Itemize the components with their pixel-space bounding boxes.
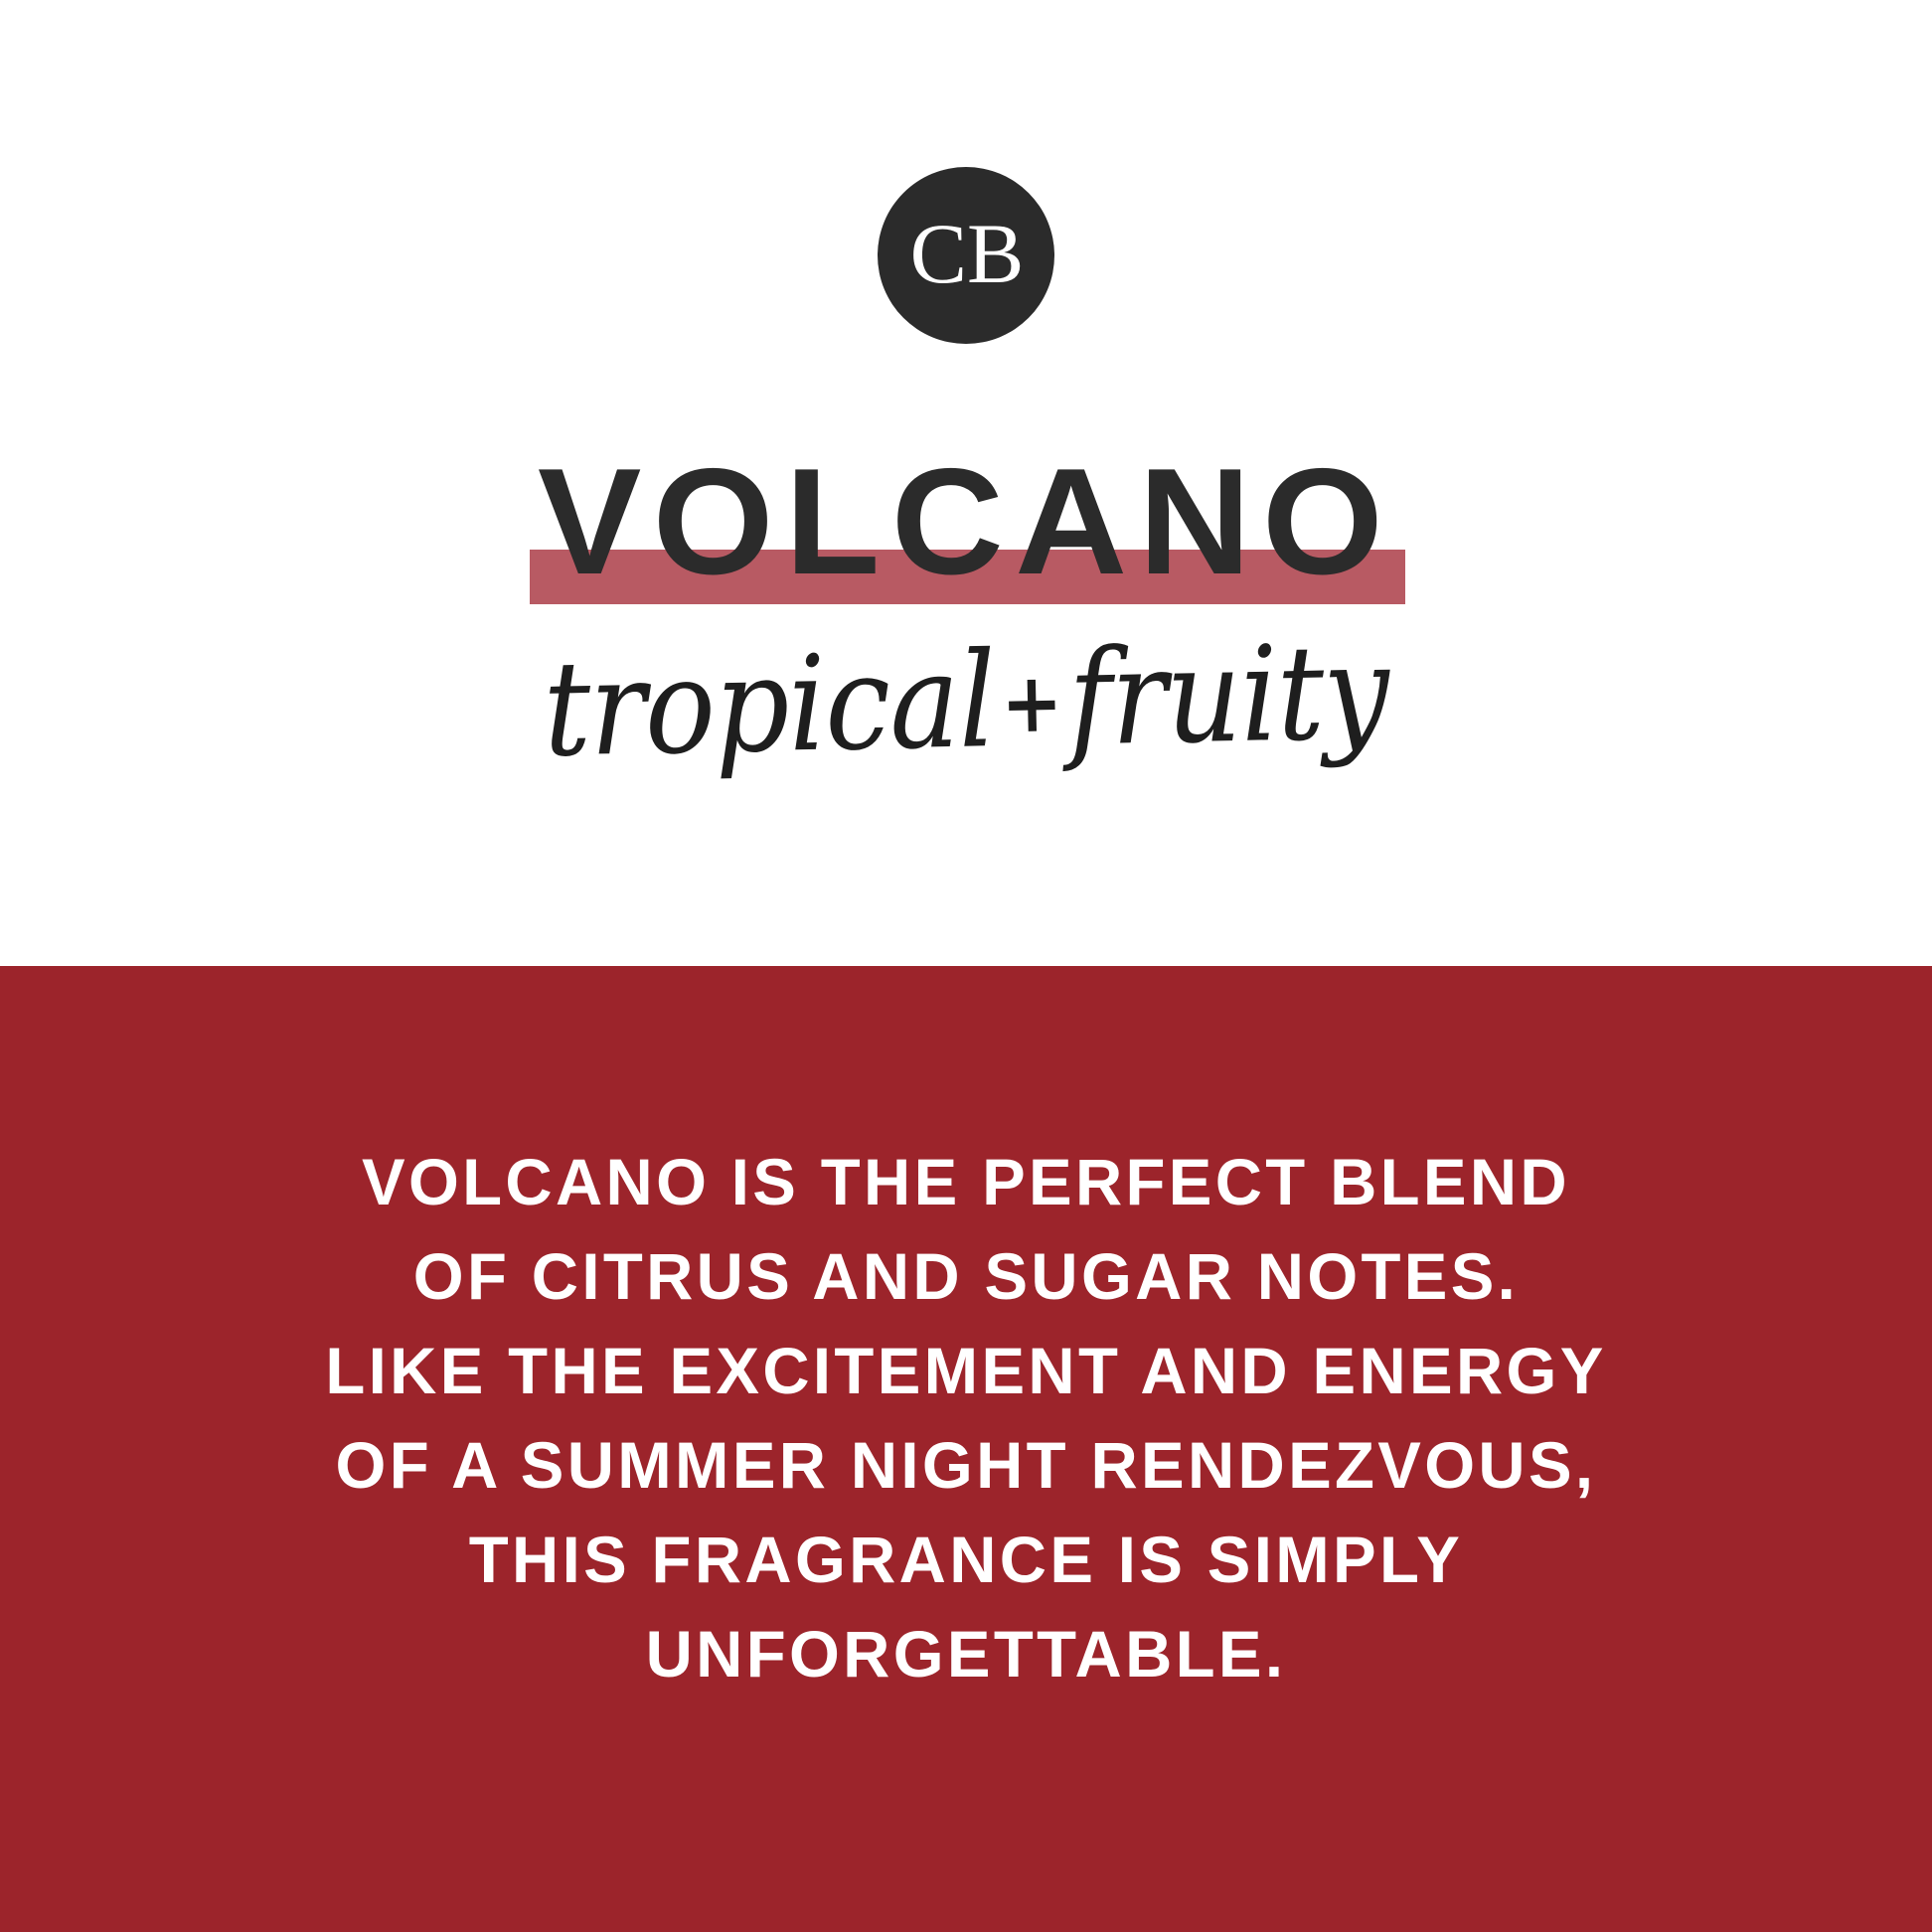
description-line: LIKE THE EXCITEMENT AND ENERGY — [10, 1324, 1923, 1418]
scent-profile-subtitle: tropical+fruity — [0, 596, 1932, 808]
product-fragrance-card: CB VOLCANO tropical+fruity VOLCANO IS TH… — [0, 0, 1932, 1932]
title-block: VOLCANO — [0, 447, 1932, 616]
description-line: OF CITRUS AND SUGAR NOTES. — [10, 1229, 1923, 1324]
brand-logo-badge: CB — [878, 167, 1054, 344]
page-title: VOLCANO — [0, 447, 1932, 596]
subtitle-plus-separator: + — [994, 655, 1069, 752]
description-line: THIS FRAGRANCE IS SIMPLY — [10, 1513, 1923, 1607]
description-line: OF A SUMMER NIGHT RENDEZVOUS, — [10, 1418, 1923, 1513]
description-section: VOLCANO IS THE PERFECT BLEND OF CITRUS A… — [0, 966, 1932, 1932]
product-description: VOLCANO IS THE PERFECT BLEND OF CITRUS A… — [0, 1135, 1932, 1701]
brand-monogram-text: CB — [910, 211, 1025, 296]
description-line: VOLCANO IS THE PERFECT BLEND — [10, 1135, 1923, 1229]
description-line: UNFORGETTABLE. — [10, 1607, 1923, 1701]
subtitle-suffix-text: fruity — [1067, 615, 1390, 775]
header-section: CB VOLCANO tropical+fruity — [0, 0, 1932, 966]
subtitle-prefix-text: tropical — [542, 623, 996, 786]
